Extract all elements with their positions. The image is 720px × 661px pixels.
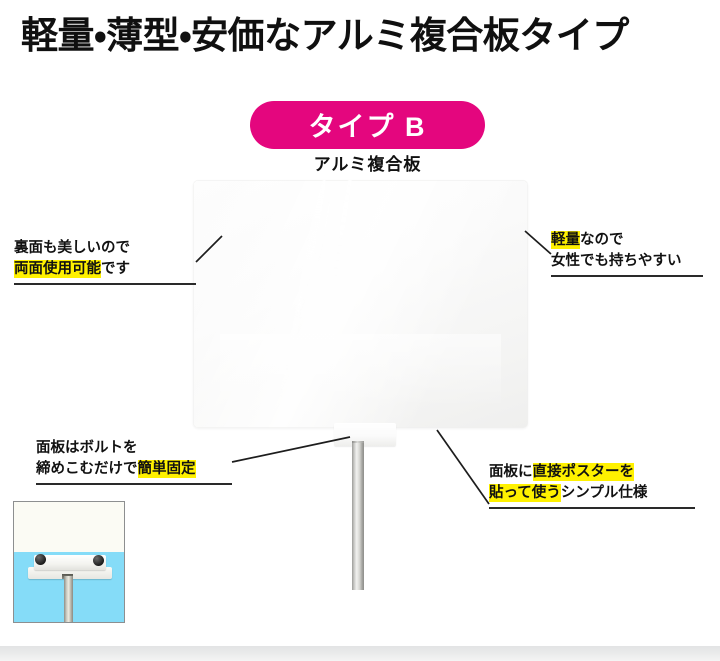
callout-bottom-left: 面板はボルトを 締めこむだけで簡単固定: [36, 438, 232, 485]
stand-pole: [352, 443, 364, 590]
inset-photo-bolt-detail: [13, 501, 125, 623]
bolt-knob-icon: [35, 554, 46, 565]
inset-stand-pole: [64, 576, 73, 622]
gloss-streak-icon: [330, 180, 355, 290]
type-badge: タイプ B: [250, 101, 485, 149]
callout-highlight: 両面使用可能: [14, 260, 101, 278]
callout-text: 締めこむだけで: [36, 461, 138, 477]
callout-bottom-right-line1: 面板に直接ポスターを: [489, 462, 695, 483]
callout-bottom-right: 面板に直接ポスターを 貼って使うシンプル仕様: [489, 462, 695, 509]
callout-bottom-right-line2: 貼って使うシンプル仕様: [489, 483, 695, 504]
callout-top-right-line2: 女性でも持ちやすい: [551, 251, 703, 272]
type-badge-subtitle: アルミ複合板: [250, 150, 485, 175]
callout-underline: [551, 275, 703, 277]
callout-underline: [36, 483, 232, 485]
callout-highlight: 直接ポスターを: [533, 463, 635, 481]
callout-underline: [14, 283, 196, 285]
bolt-knob-icon: [93, 555, 104, 566]
callout-underline: [489, 507, 695, 509]
type-badge-label: タイプ B: [250, 101, 485, 149]
callout-text: シンプル仕様: [561, 485, 648, 501]
callout-top-left-line1: 裏面も美しいので: [14, 238, 196, 259]
callout-text: 面板はボルトを: [36, 440, 138, 456]
callout-highlight: 貼って使う: [489, 484, 561, 502]
callout-text: です: [101, 261, 130, 277]
callout-highlight: 軽量: [551, 231, 580, 249]
infographic-canvas: 軽量・薄型・安価なアルミ複合板タイプ タイプ B アルミ複合板 裏面も美しいので…: [0, 0, 720, 661]
page-title: 軽量・薄型・安価なアルミ複合板タイプ: [21, 10, 629, 62]
callout-top-left: 裏面も美しいので 両面使用可能です: [14, 238, 196, 285]
bottom-divider-band: [0, 646, 720, 661]
callout-highlight: 簡単固定: [138, 460, 196, 478]
callout-text: 女性でも持ちやすい: [551, 253, 682, 269]
callout-text: 面板に: [489, 464, 533, 480]
bolt-bracket: [334, 423, 396, 446]
callout-top-right-line1: 軽量なので: [551, 230, 703, 251]
callout-top-left-line2: 両面使用可能です: [14, 259, 196, 280]
callout-text: なので: [580, 232, 624, 248]
callout-bottom-left-line1: 面板はボルトを: [36, 438, 232, 459]
callout-text: 裏面も美しいので: [14, 240, 130, 256]
sign-board-panel: [193, 180, 528, 428]
callout-top-right: 軽量なので 女性でも持ちやすい: [551, 230, 703, 277]
callout-bottom-left-line2: 締めこむだけで簡単固定: [36, 459, 232, 480]
gloss-streak-icon: [279, 291, 305, 400]
